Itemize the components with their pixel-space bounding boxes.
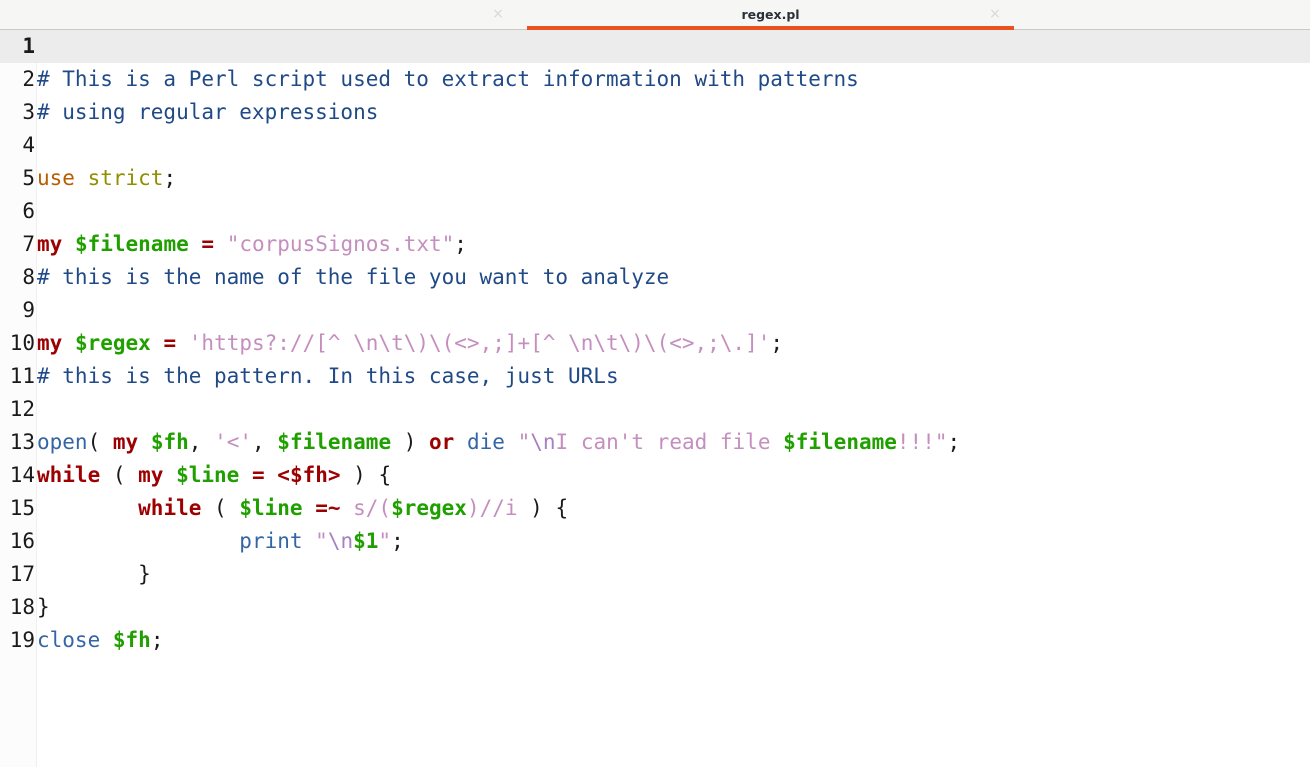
token-op: = [201, 232, 214, 256]
code-text[interactable]: use strict; [37, 162, 176, 195]
code-text[interactable]: # This is a Perl script used to extract … [37, 63, 859, 96]
token-kw: or [429, 430, 454, 454]
token-plain: ) [391, 430, 429, 454]
token-plain: ( [88, 430, 113, 454]
line-number: 13 [0, 426, 37, 459]
token-var: $filename [75, 232, 189, 256]
token-plain: ) { [341, 463, 392, 487]
token-plain: ; [163, 166, 176, 190]
code-line[interactable]: 15 while ( $line =~ s/($regex)//i ) { [0, 492, 1310, 525]
token-var: $regex [391, 496, 467, 520]
token-var: $line [239, 496, 302, 520]
token-str: "corpusSignos.txt" [227, 232, 455, 256]
token-plain: ( [201, 496, 239, 520]
token-str: " [378, 529, 391, 553]
token-var: $filename [783, 430, 897, 454]
close-icon[interactable]: × [487, 0, 509, 29]
token-plain: ; [770, 331, 783, 355]
token-plain [189, 232, 202, 256]
code-text[interactable]: open( my $fh, '<', $filename ) or die "\… [37, 426, 960, 459]
token-var: $line [176, 463, 239, 487]
token-plain [265, 463, 278, 487]
token-str: 'https?://[^ \n\t\)\(<>,;]+[^ \n\t\)\(<>… [189, 331, 771, 355]
line-number: 8 [0, 261, 37, 294]
code-editor[interactable]: 12# This is a Perl script used to extrac… [0, 30, 1310, 767]
code-text[interactable]: } [37, 591, 50, 624]
token-comment: # this is the name of the file you want … [37, 265, 669, 289]
token-var: $filename [277, 430, 391, 454]
token-comment: # This is a Perl script used to extract … [37, 67, 859, 91]
token-plain [303, 496, 316, 520]
code-line[interactable]: 4 [0, 129, 1310, 162]
token-comment: # using regular expressions [37, 100, 378, 124]
token-plain: ; [454, 232, 467, 256]
token-op: = [163, 331, 176, 355]
token-pragma: strict [88, 166, 164, 190]
line-number: 12 [0, 393, 37, 426]
code-line[interactable]: 14while ( my $line = <$fh> ) { [0, 459, 1310, 492]
token-kw: my [113, 430, 138, 454]
token-comment: # this is the pattern. In this case, jus… [37, 364, 619, 388]
token-op: <$fh> [277, 463, 340, 487]
token-kw: my [138, 463, 163, 487]
code-line[interactable]: 10my $regex = 'https?://[^ \n\t\)\(<>,;]… [0, 327, 1310, 360]
token-str: " [518, 430, 531, 454]
token-plain [505, 430, 518, 454]
token-plain: } [37, 595, 50, 619]
token-kw: while [138, 496, 201, 520]
code-text[interactable]: while ( my $line = <$fh> ) { [37, 459, 391, 492]
line-number: 11 [0, 360, 37, 393]
token-use: use [37, 166, 88, 190]
token-regex: )//i [467, 496, 518, 520]
code-text[interactable]: # this is the pattern. In this case, jus… [37, 360, 619, 393]
token-plain: ; [947, 430, 960, 454]
token-kw: while [37, 463, 100, 487]
token-plain: ; [391, 529, 404, 553]
line-number: 3 [0, 96, 37, 129]
token-kw: my [37, 331, 62, 355]
code-line[interactable]: 6 [0, 195, 1310, 228]
code-text[interactable]: } [37, 558, 151, 591]
close-icon[interactable]: × [984, 0, 1006, 29]
line-number: 7 [0, 228, 37, 261]
line-number: 2 [0, 63, 37, 96]
token-plain: ( [100, 463, 138, 487]
token-plain: ; [151, 628, 164, 652]
line-number: 4 [0, 129, 37, 162]
token-var: $1 [353, 529, 378, 553]
token-esc: \n [328, 529, 353, 553]
token-kw: my [37, 232, 62, 256]
token-plain [100, 628, 113, 652]
token-func: print [239, 529, 302, 553]
token-plain [239, 463, 252, 487]
token-op: = [252, 463, 265, 487]
token-plain [303, 529, 316, 553]
code-line[interactable]: 3# using regular expressions [0, 96, 1310, 129]
token-str: I can't read file [556, 430, 784, 454]
code-text[interactable]: my $regex = 'https?://[^ \n\t\)\(<>,;]+[… [37, 327, 783, 360]
token-regex: s/( [353, 496, 391, 520]
token-plain [340, 496, 353, 520]
line-number: 1 [0, 30, 37, 63]
token-str: '<' [214, 430, 252, 454]
token-plain [163, 463, 176, 487]
line-number: 5 [0, 162, 37, 195]
code-line[interactable]: 8# this is the name of the file you want… [0, 261, 1310, 294]
line-number: 9 [0, 294, 37, 327]
token-plain: , [189, 430, 214, 454]
code-text[interactable]: # this is the name of the file you want … [37, 261, 669, 294]
token-esc: \n [530, 430, 555, 454]
token-plain [62, 331, 75, 355]
token-plain [151, 331, 164, 355]
code-line[interactable]: 12 [0, 393, 1310, 426]
token-plain [176, 331, 189, 355]
code-text[interactable]: close $fh; [37, 624, 163, 657]
line-number: 14 [0, 459, 37, 492]
code-text[interactable]: print "\n$1"; [37, 525, 404, 558]
line-number: 10 [0, 327, 37, 360]
code-line[interactable]: 17 } [0, 558, 1310, 591]
line-number: 15 [0, 492, 37, 525]
code-line[interactable]: 16 print "\n$1"; [0, 525, 1310, 558]
code-line[interactable]: 7my $filename = "corpusSignos.txt"; [0, 228, 1310, 261]
token-var: $regex [75, 331, 151, 355]
token-var: $fh [113, 628, 151, 652]
code-line[interactable]: 1 [0, 30, 1310, 63]
token-plain: , [252, 430, 277, 454]
token-str: !!!" [897, 430, 948, 454]
code-line[interactable]: 19close $fh; [0, 624, 1310, 657]
token-plain [454, 430, 467, 454]
code-lines[interactable]: 12# This is a Perl script used to extrac… [0, 30, 1310, 657]
token-plain [62, 232, 75, 256]
line-number: 17 [0, 558, 37, 591]
code-text[interactable]: my $filename = "corpusSignos.txt"; [37, 228, 467, 261]
code-text[interactable]: while ( $line =~ s/($regex)//i ) { [37, 492, 568, 525]
code-line[interactable]: 13open( my $fh, '<', $filename ) or die … [0, 426, 1310, 459]
line-number: 19 [0, 624, 37, 657]
code-line[interactable]: 11# this is the pattern. In this case, j… [0, 360, 1310, 393]
token-plain [37, 496, 138, 520]
tab-regex-pl[interactable]: regex.pl [527, 0, 1014, 29]
token-op: =~ [315, 496, 340, 520]
token-plain [138, 430, 151, 454]
tab-bar: × regex.pl × [0, 0, 1310, 30]
token-func: close [37, 628, 100, 652]
line-number: 16 [0, 525, 37, 558]
line-number: 18 [0, 591, 37, 624]
token-plain: ) { [518, 496, 569, 520]
token-plain [37, 529, 239, 553]
token-str: " [315, 529, 328, 553]
code-line[interactable]: 2# This is a Perl script used to extract… [0, 63, 1310, 96]
token-plain [214, 232, 227, 256]
line-number: 6 [0, 195, 37, 228]
code-line[interactable]: 5use strict; [0, 162, 1310, 195]
code-line[interactable]: 9 [0, 294, 1310, 327]
token-func: open [37, 430, 88, 454]
token-func: die [467, 430, 505, 454]
code-text[interactable]: # using regular expressions [37, 96, 378, 129]
code-line[interactable]: 18} [0, 591, 1310, 624]
token-plain: } [37, 562, 151, 586]
token-var: $fh [151, 430, 189, 454]
